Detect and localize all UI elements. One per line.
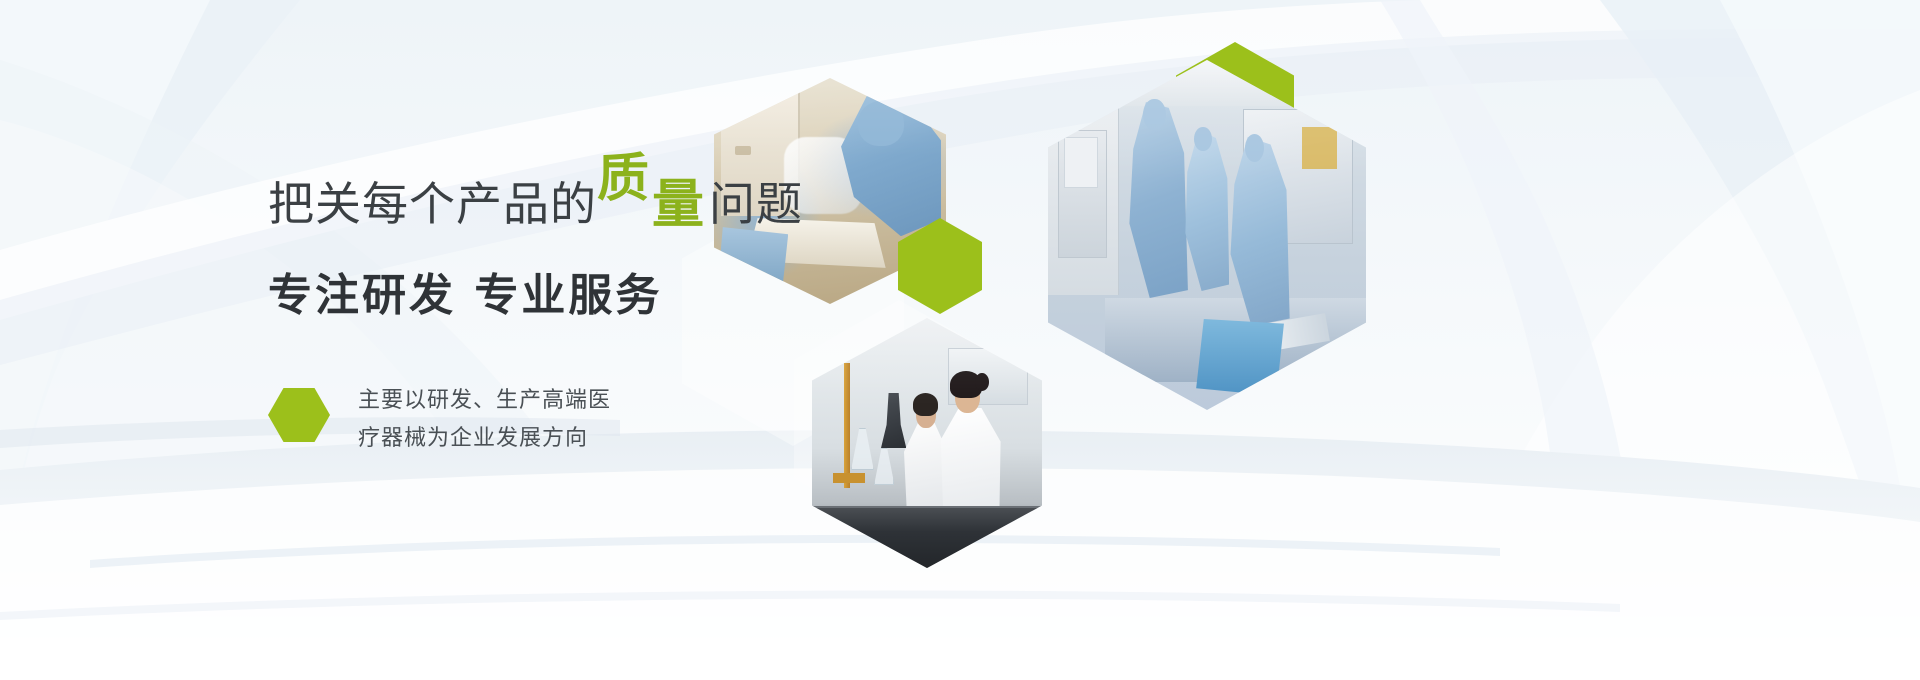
headline-accent-zhi: 质: [597, 153, 650, 205]
hero-description: 主要以研发、生产高端医 疗器械为企业发展方向: [358, 382, 611, 457]
cleanroom-production-line-photo: [1048, 60, 1366, 410]
hero-headline: 把关每个产品的 质 量 问题: [268, 175, 888, 250]
hero-banner: 把关每个产品的 质 量 问题 专注研发 专业服务 主要以研发、生产高端医 疗器械…: [0, 0, 1920, 680]
hexagon-icon: [268, 388, 330, 442]
headline-accent-liang: 量: [652, 179, 705, 231]
hero-description-row: 主要以研发、生产高端医 疗器械为企业发展方向: [268, 382, 888, 457]
headline-tail: 问题: [709, 181, 803, 227]
headline-lead: 把关每个产品的: [268, 181, 597, 227]
hero-description-line-2: 疗器械为企业发展方向: [358, 420, 611, 457]
hero-text-block: 把关每个产品的 质 量 问题 专注研发 专业服务 主要以研发、生产高端医 疗器械…: [268, 175, 888, 457]
hero-subheadline: 专注研发 专业服务: [268, 272, 888, 320]
hero-description-line-1: 主要以研发、生产高端医: [358, 382, 611, 419]
